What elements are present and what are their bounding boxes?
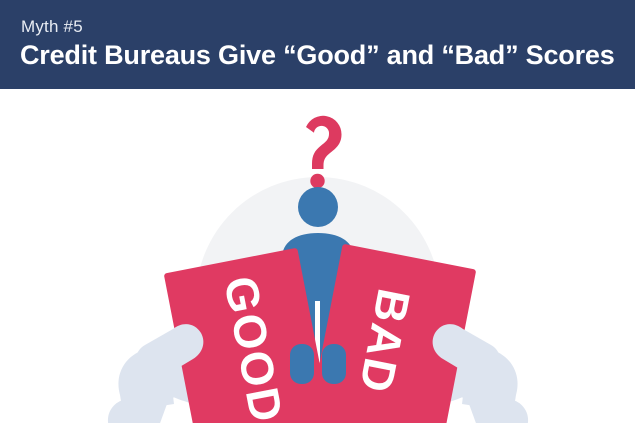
myth-number-label: Myth #5 <box>21 17 83 37</box>
illustration-panel: GOOD BAD <box>0 89 635 423</box>
page-title: Credit Bureaus Give “Good” and “Bad” Sco… <box>20 39 615 72</box>
slide-root: Myth #5 Credit Bureaus Give “Good” and “… <box>0 0 635 423</box>
header-banner: Myth #5 Credit Bureaus Give “Good” and “… <box>0 0 635 89</box>
illustration-svg: GOOD BAD <box>0 89 635 423</box>
